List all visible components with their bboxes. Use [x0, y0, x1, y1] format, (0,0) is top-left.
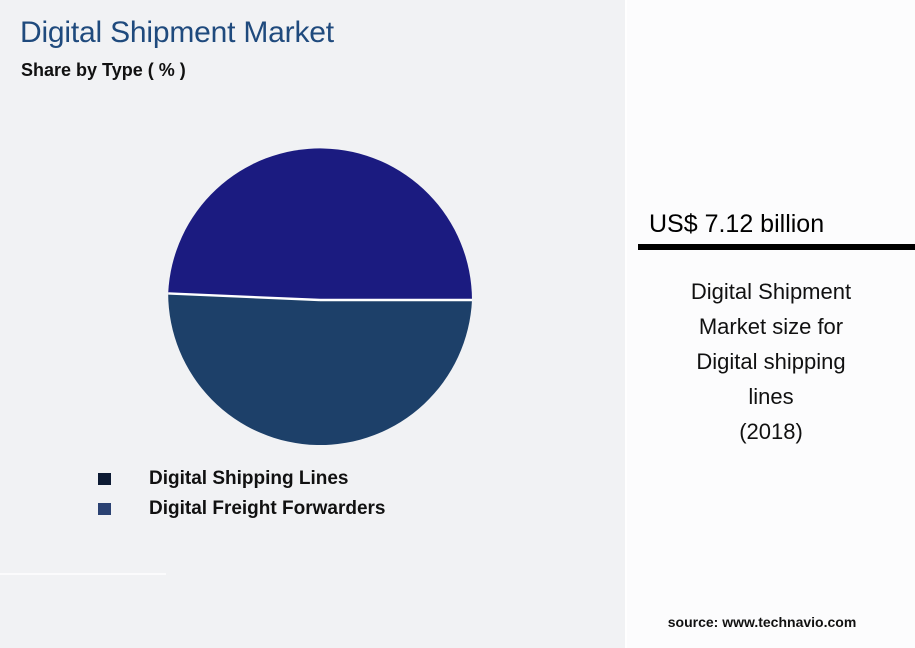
legend-item-label: Digital Freight Forwarders	[149, 498, 385, 520]
pie-slice-digital-shipping-lines	[168, 148, 472, 300]
kpi-description-line: Digital Shipment	[641, 274, 901, 309]
page-title: Digital Shipment Market	[20, 16, 334, 50]
chart-page: Digital Shipment Market Share by Type ( …	[0, 0, 915, 648]
kpi-description-line: Market size for	[641, 309, 901, 344]
pie-slice-digital-freight-forwarders	[168, 293, 472, 445]
kpi-description: Digital ShipmentMarket size forDigital s…	[641, 274, 901, 449]
legend-item-digital-shipping-lines[interactable]: Digital Shipping Lines	[98, 464, 385, 494]
kpi-underline	[638, 244, 915, 250]
legend-swatch-icon	[98, 503, 111, 515]
legend-item-label: Digital Shipping Lines	[149, 468, 349, 490]
pie-chart-svg	[168, 148, 472, 452]
kpi-description-line: (2018)	[641, 414, 901, 449]
kpi-panel: US$ 7.12 billion Digital ShipmentMarket …	[627, 0, 915, 648]
pie-chart	[168, 148, 472, 452]
source-note: source: www.technavio.com	[627, 614, 897, 630]
chart-subtitle: Share by Type ( % )	[21, 60, 186, 81]
chart-legend: Digital Shipping Lines Digital Freight F…	[98, 464, 385, 524]
kpi-value: US$ 7.12 billion	[649, 210, 915, 239]
chart-panel: Digital Shipment Market Share by Type ( …	[0, 0, 625, 648]
kpi-description-line: lines	[641, 379, 901, 414]
decorative-rule	[0, 573, 166, 575]
legend-item-digital-freight-forwarders[interactable]: Digital Freight Forwarders	[98, 494, 385, 524]
kpi-description-line: Digital shipping	[641, 344, 901, 379]
legend-swatch-icon	[98, 473, 111, 485]
